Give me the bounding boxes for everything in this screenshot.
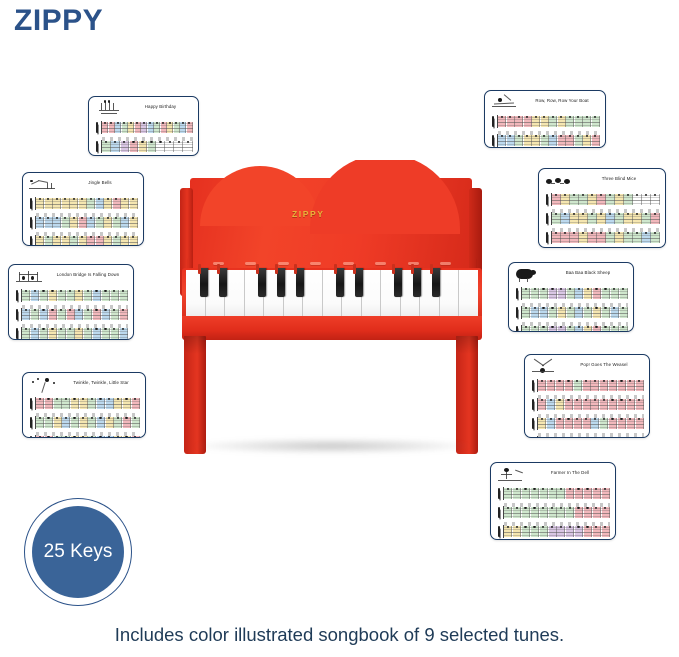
white-key[interactable]: [206, 270, 226, 318]
white-key[interactable]: [342, 270, 362, 318]
card-title: Twinkle, Twinkle, Little Star: [61, 376, 141, 385]
white-key[interactable]: [225, 270, 245, 318]
card-header: Twinkle, Twinkle, Little Star: [27, 376, 141, 396]
farmer-icon: [495, 466, 529, 485]
card-staves: [13, 288, 129, 340]
brand-logo: ZIPPY: [14, 4, 103, 38]
ledge-mark: [375, 262, 386, 264]
piano-front-rail: [182, 316, 482, 340]
piano-white-keys[interactable]: [186, 270, 478, 318]
piano-leg-right: [456, 336, 478, 454]
feature-caption: Includes color illustrated songbook of 9…: [0, 624, 679, 646]
card-header: Happy Birthday: [93, 100, 194, 120]
card-header: Baa Baa Black Sheep: [513, 266, 629, 286]
ledge-mark: [343, 262, 354, 264]
card-title: Pop! Goes The Weasel: [563, 358, 645, 367]
three-mice-icon: [543, 172, 577, 191]
white-key[interactable]: [420, 270, 440, 318]
card-header: Three Blind Mice: [543, 172, 661, 192]
white-key[interactable]: [459, 270, 478, 318]
card-staves: [543, 192, 661, 248]
songbook-card-pop-goes-the-weasel: Pop! Goes The Weasel: [524, 354, 650, 438]
ledge-mark: [213, 262, 224, 264]
toy-piano-product: ZIPPY: [166, 160, 496, 460]
card-staves: [27, 396, 141, 438]
songbook-card-farmer-in-the-dell: Farmer In The Dell: [490, 462, 616, 540]
card-header: London Bridge Is Falling Down: [13, 268, 129, 288]
white-key[interactable]: [323, 270, 343, 318]
card-title: Three Blind Mice: [577, 172, 661, 181]
piano-logo: ZIPPY: [292, 209, 325, 219]
card-header: Jingle Bells: [27, 176, 139, 196]
card-header: Pop! Goes The Weasel: [529, 358, 645, 378]
ledge-mark: [278, 262, 289, 264]
keys-count-badge-label: 25 Keys: [32, 506, 124, 598]
card-staves: [489, 114, 601, 148]
card-title: Row, Row, Row Your Boat: [523, 94, 601, 103]
star-wand-icon: [27, 376, 61, 395]
songbook-card-happy-birthday: Happy Birthday: [88, 96, 199, 156]
ledge-mark: [408, 262, 419, 264]
white-key[interactable]: [440, 270, 460, 318]
white-key[interactable]: [245, 270, 265, 318]
white-key[interactable]: [401, 270, 421, 318]
white-key[interactable]: [186, 270, 206, 318]
songbook-card-london-bridge: London Bridge Is Falling Down: [8, 264, 134, 340]
white-key[interactable]: [362, 270, 382, 318]
white-key[interactable]: [303, 270, 323, 318]
card-title: Baa Baa Black Sheep: [547, 266, 629, 275]
card-header: Farmer In The Dell: [495, 466, 611, 486]
rowboat-icon: [489, 94, 523, 113]
songbook-card-three-blind-mice: Three Blind Mice: [538, 168, 666, 248]
card-title: Happy Birthday: [127, 100, 194, 109]
white-key[interactable]: [264, 270, 284, 318]
ledge-mark: [310, 262, 321, 264]
songbook-card-jingle-bells: Jingle Bells: [22, 172, 144, 246]
product-shadow: [196, 438, 468, 454]
songbook-card-baa-baa-black-sheep: Baa Baa Black Sheep: [508, 262, 634, 332]
card-title: Farmer In The Dell: [529, 466, 611, 475]
ledge-mark: [245, 262, 256, 264]
card-staves: [513, 286, 629, 332]
card-staves: [27, 196, 139, 246]
birthday-cake-icon: [93, 100, 127, 119]
card-staves: [93, 120, 194, 156]
product-image-canvas: ZIPPY Happy Birthday: [0, 0, 679, 657]
card-staves: [529, 378, 645, 438]
card-title: London Bridge Is Falling Down: [47, 268, 129, 277]
weasel-icon: [529, 358, 563, 377]
white-key[interactable]: [381, 270, 401, 318]
card-header: Row, Row, Row Your Boat: [489, 94, 601, 114]
keys-count-badge: 25 Keys: [24, 498, 132, 606]
black-sheep-icon: [513, 266, 547, 285]
piano-leg-left: [184, 336, 206, 454]
ledge-mark: [440, 262, 451, 264]
card-title: Jingle Bells: [61, 176, 139, 185]
sleigh-horse-icon: [27, 176, 61, 195]
songbook-card-twinkle-twinkle: Twinkle, Twinkle, Little Star: [22, 372, 146, 438]
card-staves: [495, 486, 611, 540]
bridge-icon: [13, 268, 47, 287]
songbook-card-row-your-boat: Row, Row, Row Your Boat: [484, 90, 606, 148]
white-key[interactable]: [284, 270, 304, 318]
